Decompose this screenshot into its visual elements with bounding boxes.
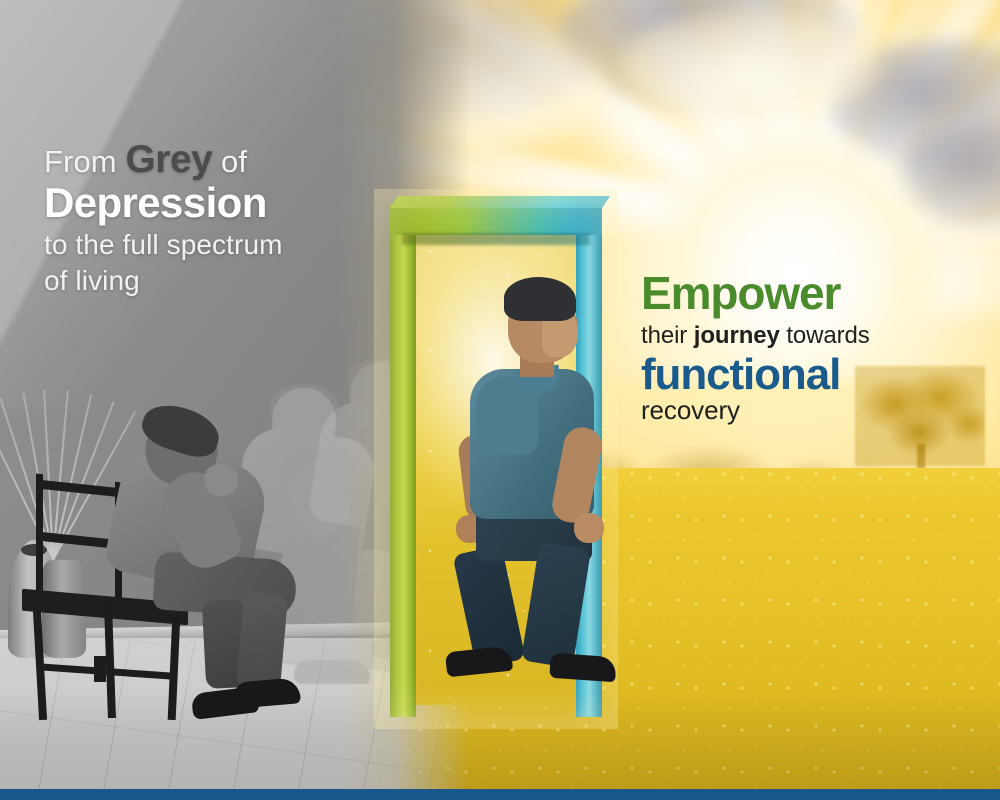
right-headline-line2-prefix: their [641, 322, 694, 349]
left-headline-line1-suffix: of [212, 144, 247, 179]
door-lintel-shadow [402, 233, 590, 245]
walking-man-front-hand [574, 513, 604, 543]
left-headline-line3: to the full spectrum [44, 228, 374, 261]
right-headline-line2-suffix: towards [780, 322, 870, 349]
chair-rung [94, 656, 106, 682]
door-lintel-top-edge [390, 196, 610, 208]
left-headline-line1: From Grey of [44, 138, 374, 182]
banner-stage: From Grey of Depression to the full spec… [0, 0, 1000, 800]
walking-man-hair [504, 277, 576, 321]
door-jamb-left-green [390, 205, 416, 717]
left-headline-depression: Depression [44, 181, 374, 225]
left-headline-line1-prefix: From [44, 144, 125, 179]
right-headline-line2: their journey towards [641, 320, 986, 352]
seated-man-hand [204, 464, 238, 496]
left-headline-line4: of living [44, 264, 374, 297]
left-headline-block: From Grey of Depression to the full spec… [44, 138, 374, 297]
left-headline-grey-word: Grey [125, 138, 212, 181]
right-headline-recovery: recovery [641, 395, 986, 426]
walking-man-shoe [445, 646, 513, 678]
bottom-accent-bar [0, 789, 1000, 800]
right-headline-journey: journey [694, 322, 780, 349]
walking-man-through-door [446, 277, 646, 692]
cloud-lit-1 [620, 10, 880, 120]
right-headline-block: Empower their journey towards functional… [641, 270, 986, 427]
walking-man-shoe [549, 653, 617, 683]
seated-man-leg [236, 592, 288, 691]
door-lintel [390, 205, 602, 235]
right-headline-functional: functional [641, 353, 986, 398]
seated-man-shoe [233, 677, 301, 709]
seated-man-head-in-hands [108, 408, 338, 708]
right-headline-empower: Empower [641, 270, 986, 317]
